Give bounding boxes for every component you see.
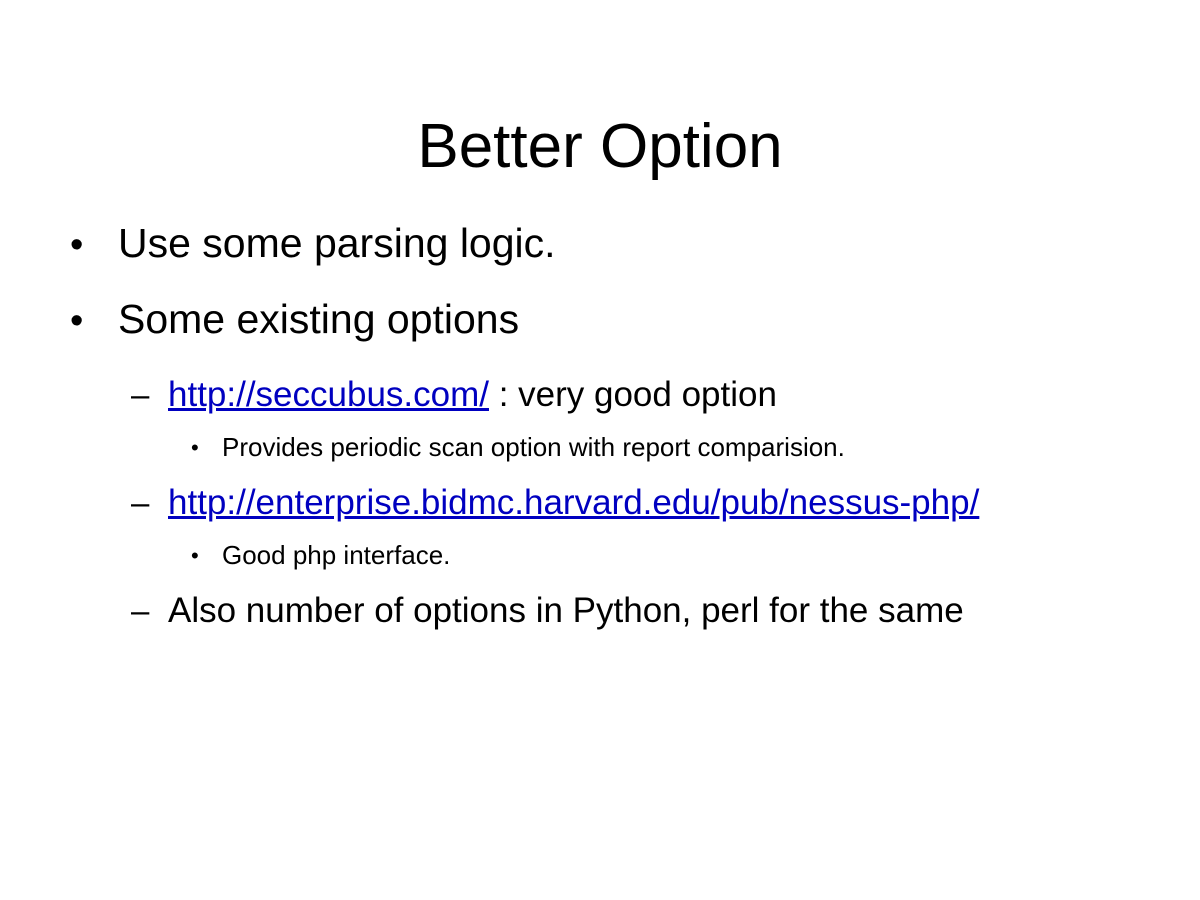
bullet-dash-icon: – (131, 476, 149, 529)
bullet-item-periodic-scan: • Provides periodic scan option with rep… (0, 427, 1200, 468)
bullet-item-seccubus-link: – http://seccubus.com/ : very good optio… (0, 368, 1200, 421)
slide-body: • Use some parsing logic. • Some existin… (0, 216, 1200, 643)
bullet-item-python-perl-options: – Also number of options in Python, perl… (0, 584, 1200, 637)
bullet-dot-small-icon: • (191, 535, 199, 576)
bullet-text: Use some parsing logic. (118, 216, 1200, 270)
bullet-item-use-parsing-logic: • Use some parsing logic. (0, 216, 1200, 270)
slide-title: Better Option (0, 116, 1200, 178)
bullet-item-some-existing-options: • Some existing options (0, 292, 1200, 346)
bullet-text: Provides periodic scan option with repor… (222, 427, 1160, 468)
bullet-text: http://seccubus.com/ : very good option (168, 368, 1140, 421)
bullet-text: http://enterprise.bidmc.harvard.edu/pub/… (168, 476, 1118, 529)
presentation-slide: Better Option • Use some parsing logic. … (0, 0, 1200, 900)
bullet-dash-icon: – (131, 368, 149, 421)
bullet-item-nessus-php-link: – http://enterprise.bidmc.harvard.edu/pu… (0, 476, 1200, 529)
hyperlink-seccubus[interactable]: http://seccubus.com/ (168, 375, 489, 414)
bullet-text: Some existing options (118, 292, 1200, 346)
bullet-text: Good php interface. (222, 535, 1160, 576)
bullet-item-good-php-interface: • Good php interface. (0, 535, 1200, 576)
hyperlink-nessus-php[interactable]: http://enterprise.bidmc.harvard.edu/pub/… (168, 483, 979, 522)
bullet-dot-icon: • (70, 218, 83, 272)
bullet-trailing-text: : very good option (489, 375, 777, 414)
bullet-dash-icon: – (131, 584, 149, 637)
bullet-dot-small-icon: • (191, 427, 199, 468)
bullet-dot-icon: • (70, 294, 83, 348)
bullet-text: Also number of options in Python, perl f… (168, 584, 1045, 637)
